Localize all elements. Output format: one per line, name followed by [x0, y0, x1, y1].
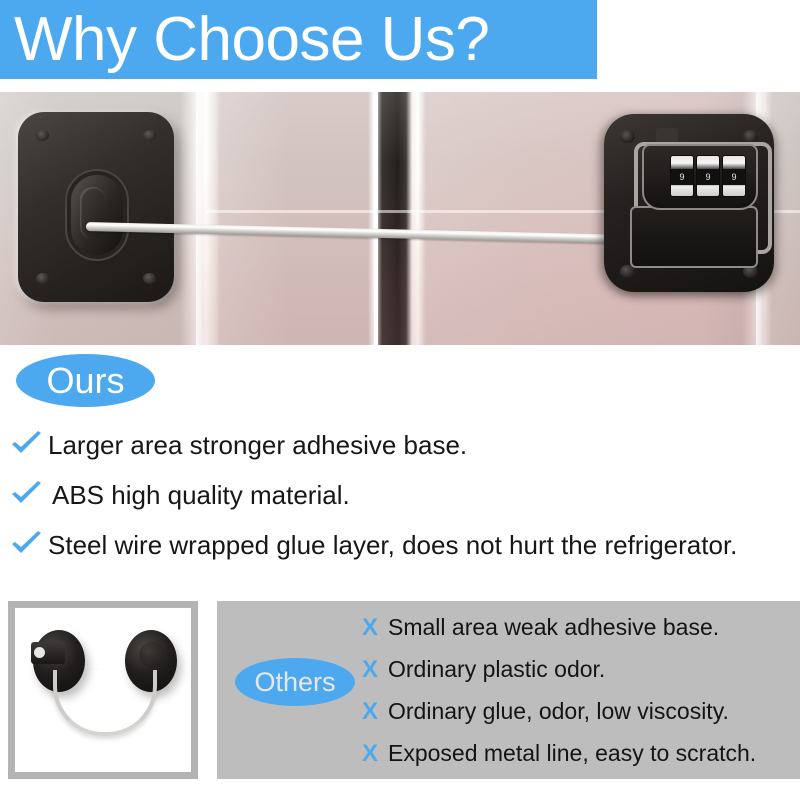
key-cylinder	[31, 642, 65, 664]
hero-product-photo: 9 9 9	[0, 92, 800, 345]
check-icon	[10, 431, 48, 462]
plate-screw-bottom-left	[36, 273, 49, 284]
others-badge-label: Others	[254, 669, 335, 696]
others-drawback-list: X Small area weak adhesive base. X Ordin…	[362, 606, 796, 774]
others-product-photo	[15, 608, 191, 772]
list-item: X Small area weak adhesive base.	[362, 606, 796, 648]
list-item: X Exposed metal line, easy to scratch.	[362, 732, 796, 774]
dial-1-digit: 9	[671, 169, 693, 185]
combination-dial-2: 9	[696, 155, 720, 197]
dial-2-digit: 9	[697, 169, 719, 185]
page-title: Why Choose Us?	[0, 9, 489, 71]
list-item: X Ordinary plastic odor.	[362, 648, 796, 690]
others-item-label: Small area weak adhesive base.	[384, 606, 719, 648]
others-comparison-panel: Others X Small area weak adhesive base. …	[217, 601, 800, 779]
list-item: Steel wire wrapped glue layer, does not …	[10, 528, 800, 560]
fridge-seam-mid	[374, 92, 378, 345]
others-badge: Others	[235, 658, 355, 706]
combination-dial-1: 9	[670, 155, 694, 197]
dial-3-digit: 9	[723, 169, 745, 185]
ours-badge-label: Ours	[46, 363, 124, 399]
others-pad-right-knob	[139, 642, 165, 668]
others-item-label: Ordinary glue, odor, low viscosity.	[384, 690, 729, 732]
anchor-knob	[71, 175, 123, 255]
plate-screw-top-right	[143, 130, 156, 141]
adhesive-anchor-plate	[18, 112, 174, 302]
ours-feature-list: Larger area stronger adhesive base. ABS …	[10, 428, 800, 578]
combination-dial-housing: 9 9 9	[642, 144, 758, 210]
others-item-label: Ordinary plastic odor.	[384, 648, 605, 690]
others-product-photo-frame	[8, 601, 198, 779]
combination-lock-plate: 9 9 9	[604, 114, 774, 292]
check-icon	[10, 481, 48, 512]
list-item: X Ordinary glue, odor, low viscosity.	[362, 690, 796, 732]
x-icon: X	[362, 691, 384, 733]
x-icon: X	[362, 607, 384, 649]
list-item: Larger area stronger adhesive base.	[10, 428, 800, 460]
combination-dial-3: 9	[722, 155, 746, 197]
ours-item-label: ABS high quality material.	[48, 480, 350, 510]
others-item-label: Exposed metal line, easy to scratch.	[384, 732, 756, 774]
x-icon: X	[362, 733, 384, 775]
check-icon	[10, 531, 48, 562]
ours-item-label: Steel wire wrapped glue layer, does not …	[48, 530, 737, 560]
fridge-seam-left	[196, 92, 202, 345]
plate-screw-bottom-right	[143, 273, 156, 284]
ours-badge: Ours	[16, 354, 155, 407]
x-icon: X	[362, 649, 384, 691]
lock-body	[630, 206, 758, 268]
header-banner: Why Choose Us?	[0, 0, 597, 79]
list-item: ABS high quality material.	[10, 478, 800, 510]
ours-item-label: Larger area stronger adhesive base.	[48, 430, 467, 460]
lock-screw-top-left	[620, 130, 635, 143]
others-exposed-cable	[53, 670, 157, 736]
keyhole-icon	[34, 647, 45, 658]
plate-screw-top-left	[36, 130, 49, 141]
